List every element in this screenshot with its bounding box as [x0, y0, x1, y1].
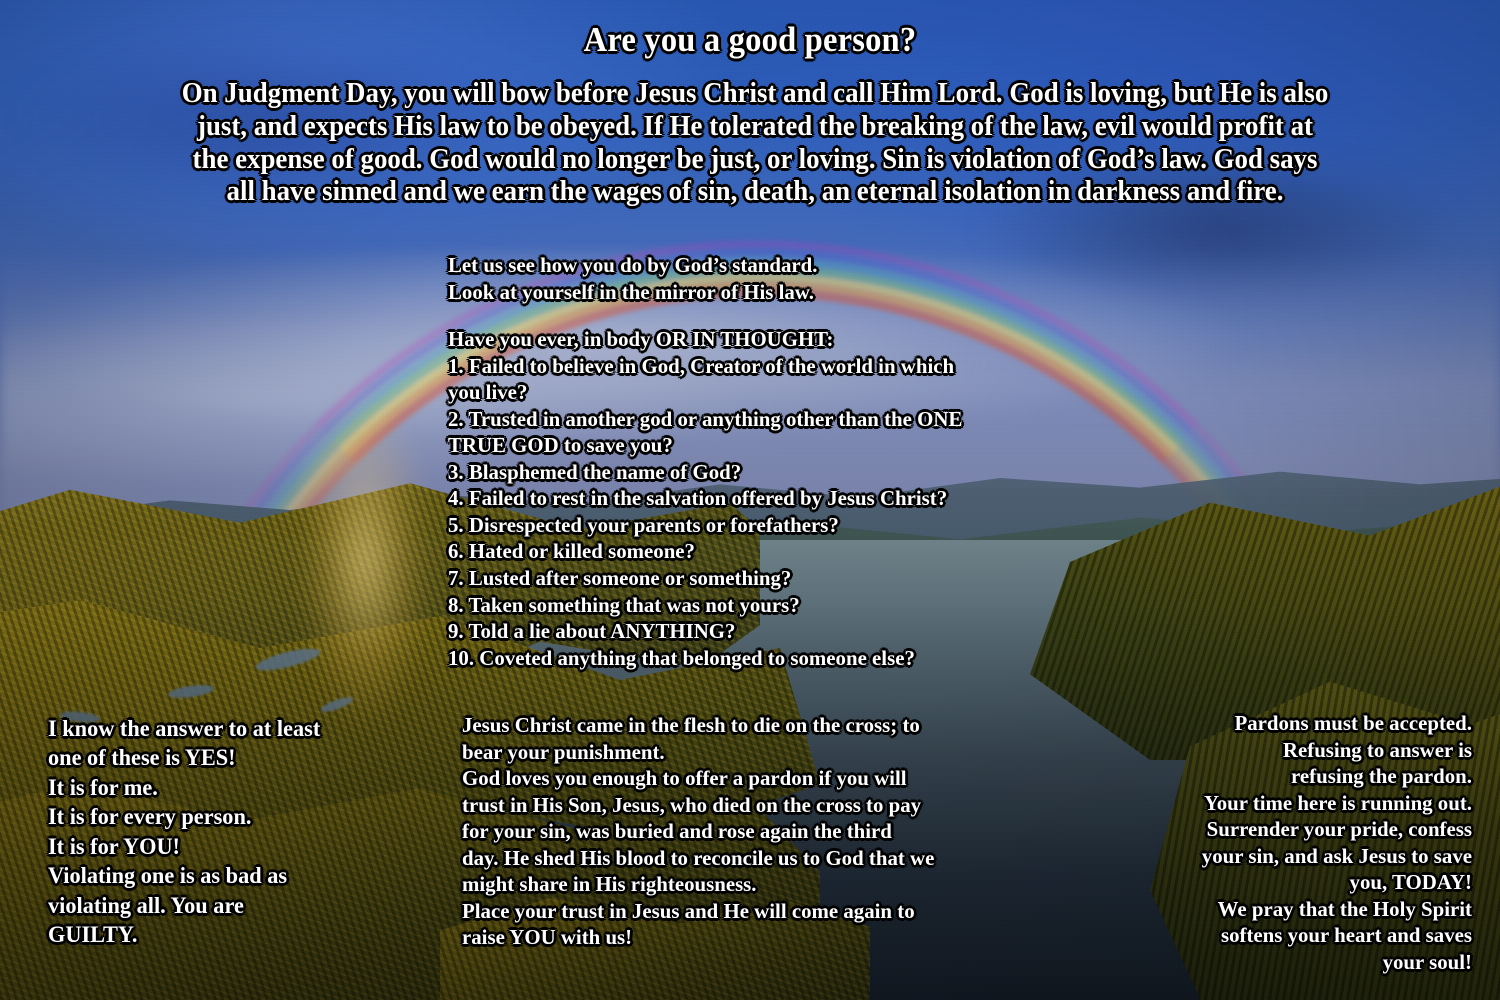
gospel-line: might share in His righteousness.	[462, 871, 1063, 898]
guilty-line: It is for YOU!	[48, 832, 436, 861]
cta-line: refusing the pardon.	[1119, 763, 1472, 790]
guilty-line: It is for me.	[48, 773, 436, 802]
guilty-line: GUILTY.	[48, 920, 436, 949]
question-item: 6. Hated or killed someone?	[448, 538, 1127, 565]
lead-line: Let us see how you do by God’s standard.	[448, 252, 1127, 279]
guilty-line: Violating one is as bad as	[48, 861, 436, 890]
intro-line: just, and expects His law to be obeyed. …	[88, 111, 1422, 144]
cta-line: your sin, and ask Jesus to save	[1119, 843, 1472, 870]
cta-line: We pray that the Holy Spirit	[1119, 896, 1472, 923]
gospel-line: trust in His Son, Jesus, who died on the…	[462, 792, 1063, 819]
question-item: 1. Failed to believe in God, Creator of …	[448, 353, 1127, 380]
call-to-action-column: Pardons must be accepted. Refusing to an…	[1119, 710, 1472, 975]
intro-line: On Judgment Day, you will bow before Jes…	[88, 78, 1422, 111]
question-item: 4. Failed to rest in the salvation offer…	[448, 485, 1127, 512]
gospel-line: Place your trust in Jesus and He will co…	[462, 898, 1063, 925]
question-item: 2. Trusted in another god or anything ot…	[448, 406, 1127, 433]
cta-line: Surrender your pride, confess	[1119, 816, 1472, 843]
intro-line: all have sinned and we earn the wages of…	[88, 176, 1422, 209]
question-item: 5. Disrespected your parents or forefath…	[448, 512, 1127, 539]
question-item: 8. Taken something that was not yours?	[448, 592, 1127, 619]
checklist-prompt: Have you ever, in body OR IN THOUGHT:	[448, 326, 1127, 353]
question-item: you live?	[448, 379, 1127, 406]
question-item: TRUE GOD to save you?	[448, 432, 1127, 459]
gospel-line: bear your punishment.	[462, 739, 1063, 766]
guilty-line: It is for every person.	[48, 802, 436, 831]
lead-line: Look at yourself in the mirror of His la…	[448, 279, 1127, 306]
gospel-line: God loves you enough to offer a pardon i…	[462, 765, 1063, 792]
cta-line: Pardons must be accepted.	[1119, 710, 1472, 737]
question-item: 9. Told a lie about ANYTHING?	[448, 618, 1127, 645]
gospel-line: for your sin, was buried and rose again …	[462, 818, 1063, 845]
question-item: 10. Coveted anything that belonged to so…	[448, 645, 1127, 672]
intro-line: the expense of good. God would no longer…	[88, 144, 1422, 177]
gospel-line: day. He shed His blood to reconcile us t…	[462, 845, 1063, 872]
question-item: 7. Lusted after someone or something?	[448, 565, 1127, 592]
guilty-column: I know the answer to at least one of the…	[48, 714, 436, 950]
question-item: 3. Blasphemed the name of God?	[448, 459, 1127, 486]
gospel-line: raise YOU with us!	[462, 924, 1063, 951]
cta-line: Your time here is running out.	[1119, 790, 1472, 817]
guilty-line: one of these is YES!	[48, 743, 436, 772]
gospel-column: Jesus Christ came in the flesh to die on…	[462, 712, 1063, 951]
intro-paragraph: On Judgment Day, you will bow before Jes…	[88, 78, 1422, 209]
spacer	[448, 305, 1127, 326]
cta-line: softens your heart and saves	[1119, 922, 1472, 949]
guilty-line: violating all. You are	[48, 891, 436, 920]
guilty-line: I know the answer to at least	[48, 714, 436, 743]
cta-line: your soul!	[1119, 949, 1472, 976]
law-checklist-block: Let us see how you do by God’s standard.…	[448, 252, 1127, 671]
gospel-line: Jesus Christ came in the flesh to die on…	[462, 712, 1063, 739]
cta-line: Refusing to answer is	[1119, 737, 1472, 764]
cta-line: you, TODAY!	[1119, 869, 1472, 896]
page-title: Are you a good person?	[53, 22, 1448, 59]
poster-canvas: Are you a good person? On Judgment Day, …	[0, 0, 1500, 1000]
